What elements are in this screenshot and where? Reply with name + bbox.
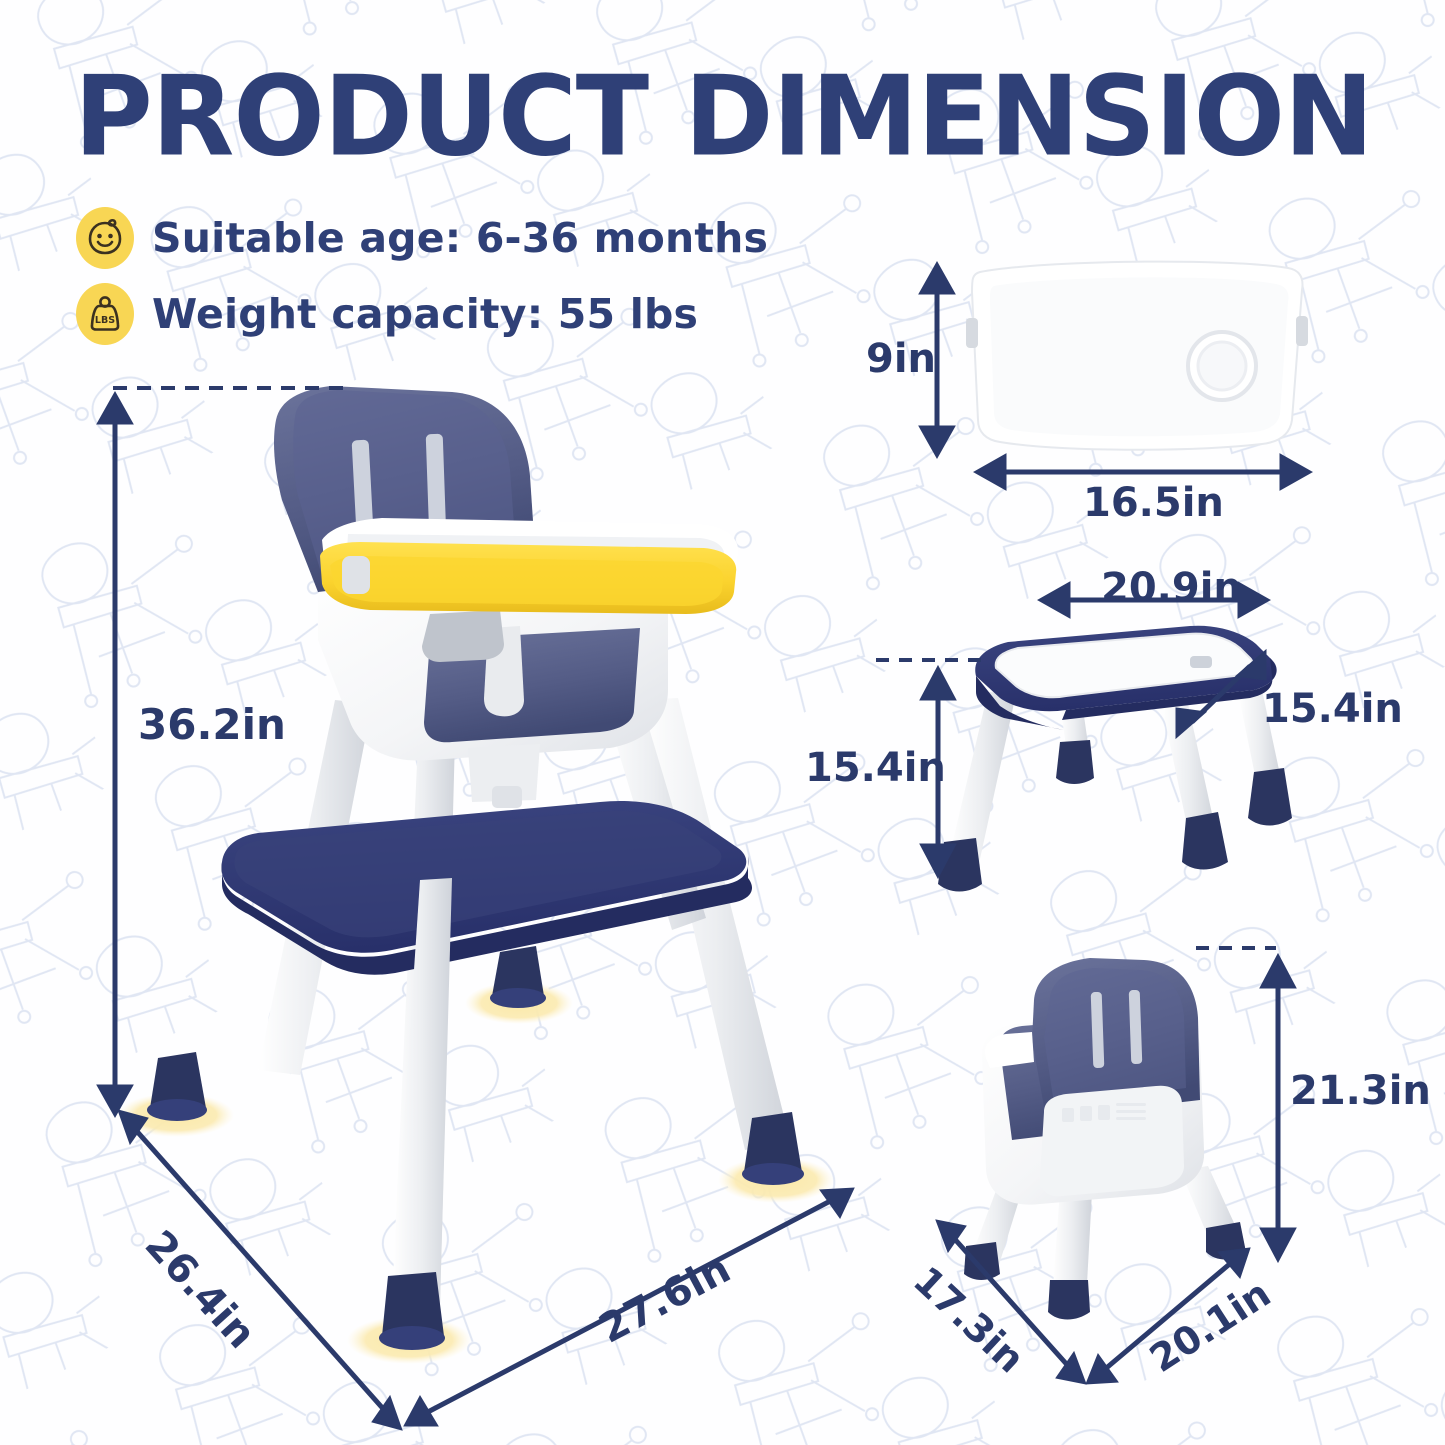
label-tray-height: 9in xyxy=(866,336,936,382)
tray-illustration xyxy=(966,262,1308,450)
label-chair-depth: 26.4in xyxy=(136,1222,264,1357)
spec-list: Suitable age: 6-36 months LBS Weight cap… xyxy=(76,200,768,352)
arrow-table-depth xyxy=(1176,650,1266,738)
label-chair-height: 36.2in xyxy=(138,700,286,749)
spec-item-age: Suitable age: 6-36 months xyxy=(76,200,768,276)
low-chair-illustration xyxy=(964,958,1246,1320)
label-table-width: 20.9in xyxy=(1101,565,1242,611)
label-lowchair-height: 21.3in xyxy=(1290,1068,1431,1114)
chair-emblem xyxy=(1062,1103,1146,1122)
high-chair-illustration xyxy=(118,386,834,1364)
label-chair-width: 27.6in xyxy=(592,1246,738,1353)
label-table-depth: 15.4in xyxy=(1262,686,1403,732)
label-lowchair-width: 20.1in xyxy=(1142,1271,1278,1381)
baby-face-icon xyxy=(76,207,134,269)
infographic-canvas: PRODUCT DIMENSION Suitable age: 6-36 mon… xyxy=(0,0,1445,1445)
weight-icon-text: LBS xyxy=(95,315,115,326)
table-illustration xyxy=(938,626,1292,892)
weight-lbs-icon: LBS xyxy=(76,283,134,345)
spec-item-age-label: Suitable age: 6-36 months xyxy=(152,214,768,262)
spec-item-weight: LBS Weight capacity: 55 lbs xyxy=(76,276,768,352)
label-lowchair-depth: 17.3in xyxy=(905,1258,1033,1381)
arrow-chair-height xyxy=(97,392,133,1117)
label-tray-width: 16.5in xyxy=(1083,480,1224,526)
label-table-height: 15.4in xyxy=(805,745,946,791)
spec-item-weight-label: Weight capacity: 55 lbs xyxy=(152,290,698,338)
page-title: PRODUCT DIMENSION xyxy=(74,52,1306,181)
